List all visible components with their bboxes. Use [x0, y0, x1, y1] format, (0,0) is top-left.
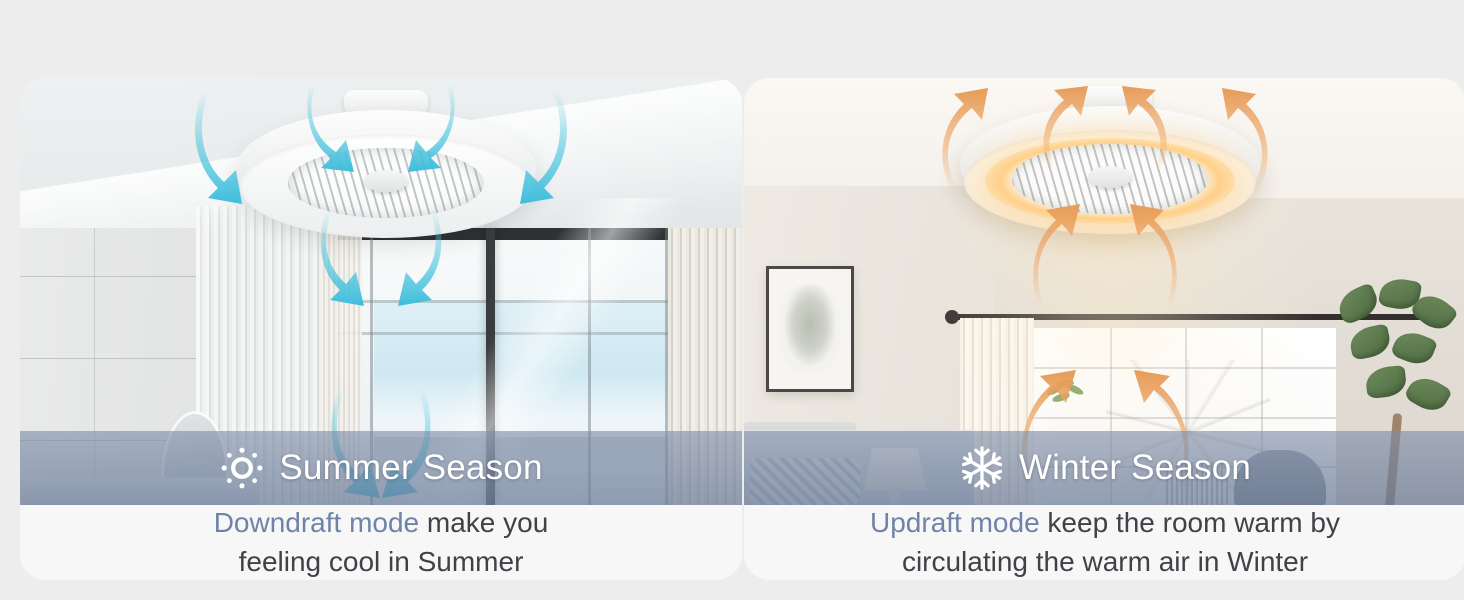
caption-summer-line1: Downdraft mode make you — [214, 504, 549, 543]
banner-label-winter: Winter Season — [1019, 448, 1251, 488]
ceiling-fan-downdraft — [226, 90, 546, 250]
caption-summer-rest: make you — [419, 507, 548, 538]
caption-summer: Downdraft mode make you feeling cool in … — [20, 505, 742, 580]
ceiling-fan-updraft — [950, 86, 1270, 246]
caption-summer-accent: Downdraft mode — [214, 507, 419, 538]
fan-hub — [364, 170, 408, 192]
sun-icon — [219, 445, 265, 491]
panel-winter: Winter Season Updraft mode keep the room… — [744, 78, 1464, 580]
winter-scene-photo: Winter Season — [744, 78, 1464, 505]
caption-winter-rest: keep the room warm by — [1040, 507, 1340, 538]
caption-winter-accent: Updraft mode — [870, 507, 1040, 538]
panel-summer: Summer Season Downdraft mode make you fe… — [20, 78, 742, 580]
potted-plant-small — [1044, 380, 1090, 420]
caption-winter-line1: Updraft mode keep the room warm by — [870, 504, 1340, 543]
summer-scene-photo: Summer Season — [20, 78, 742, 505]
snowflake-icon — [959, 445, 1005, 491]
banner-summer: Summer Season — [20, 431, 742, 505]
caption-summer-line2: feeling cool in Summer — [239, 543, 524, 581]
framed-artwork — [766, 266, 854, 392]
fan-hub — [1088, 166, 1132, 188]
caption-winter: Updraft mode keep the room warm by circu… — [744, 505, 1464, 580]
banner-label-summer: Summer Season — [279, 448, 542, 488]
banner-winter: Winter Season — [744, 431, 1464, 505]
product-feature-graphic: Summer Season Downdraft mode make you fe… — [0, 0, 1464, 600]
caption-winter-line2: circulating the warm air in Winter — [902, 543, 1308, 581]
